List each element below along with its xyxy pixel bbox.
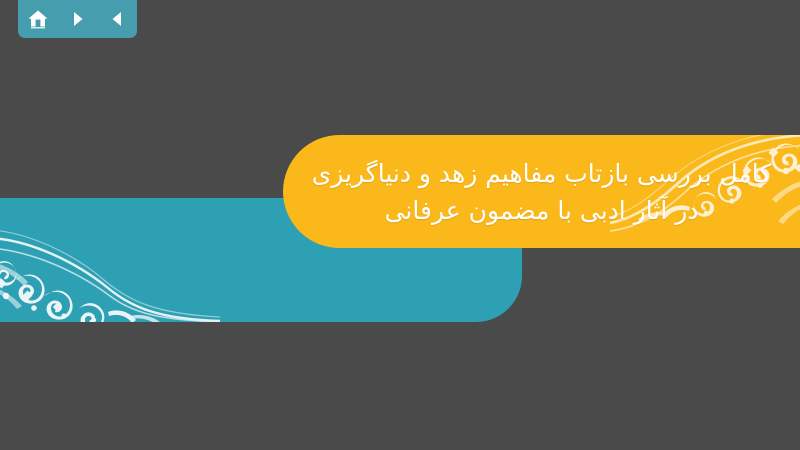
navigation-bar	[18, 0, 137, 38]
yellow-title-panel	[283, 135, 800, 248]
forward-icon	[69, 10, 87, 28]
home-icon	[27, 9, 49, 29]
back-icon	[108, 10, 126, 28]
forward-button[interactable]	[63, 5, 93, 33]
home-button[interactable]	[23, 5, 53, 33]
back-button[interactable]	[102, 5, 132, 33]
yellow-corner-ornament-icon	[610, 135, 800, 248]
slide-canvas: کامل بررسی بازتاب مفاهیم زهد و دنیاگریزی…	[0, 0, 800, 450]
teal-corner-ornament-icon	[0, 204, 220, 322]
